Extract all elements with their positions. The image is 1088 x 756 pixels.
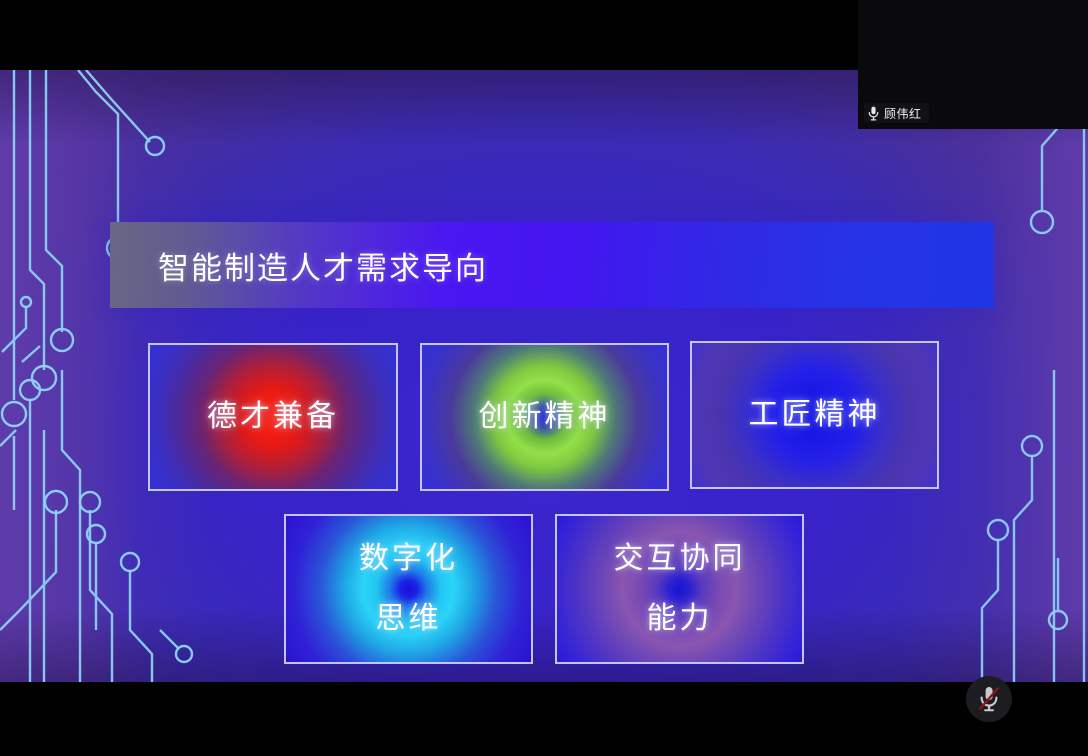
concept-card-label: 数字化思维 (359, 529, 458, 649)
concept-card-shu-zi-hua-si-wei: 数字化思维 (284, 514, 533, 664)
concept-card-label: 创新精神 (479, 395, 611, 439)
microphone-icon (868, 106, 879, 121)
self-view-video-tile[interactable]: 顾伟红 (858, 0, 1088, 129)
concept-card-chuang-xin-jing-shen: 创新精神 (420, 343, 669, 491)
presentation-slide: 智能制造人才需求导向 德才兼备 创新精神 工匠精神 数字化思维 交 (0, 70, 1088, 682)
concept-card-label: 交互协同能力 (614, 529, 746, 649)
concept-card-label: 德才兼备 (207, 395, 339, 439)
letterbox-bottom (0, 682, 1088, 756)
slide-title-banner: 智能制造人才需求导向 (110, 222, 994, 308)
concept-card-jiao-hu-xie-tong-neng-li: 交互协同能力 (555, 514, 804, 664)
participant-name-chip: 顾伟红 (864, 103, 929, 123)
concept-card-de-cai-jian-bei: 德才兼备 (148, 343, 398, 491)
participant-name: 顾伟红 (884, 105, 922, 122)
concept-card-label: 工匠精神 (749, 393, 881, 437)
concept-card-gong-jiang-jing-shen: 工匠精神 (690, 341, 939, 489)
microphone-muted-icon (977, 685, 1001, 713)
meeting-screen-share: 智能制造人才需求导向 德才兼备 创新精神 工匠精神 数字化思维 交 (0, 0, 1088, 756)
mic-toggle-button[interactable] (966, 676, 1012, 722)
slide-title: 智能制造人才需求导向 (158, 243, 488, 288)
